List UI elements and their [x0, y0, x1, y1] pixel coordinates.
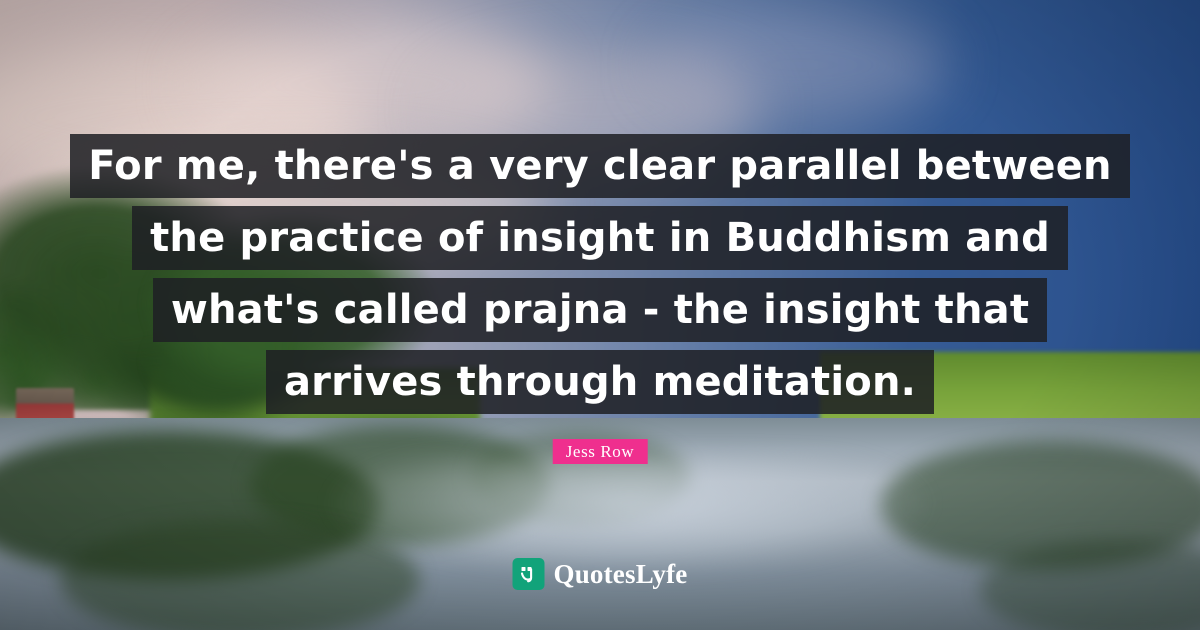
author-badge[interactable]: Jess Row: [553, 439, 648, 464]
quote-line: what's called prajna - the insight that: [153, 278, 1047, 342]
quote-line: arrives through meditation.: [266, 350, 934, 414]
quote-smiley-icon: [513, 558, 545, 590]
quote-image-card: For me, there's a very clear parallel be…: [0, 0, 1200, 630]
brand-logo[interactable]: QuotesLyfe: [513, 558, 688, 590]
quote-line: For me, there's a very clear parallel be…: [70, 134, 1129, 198]
brand-name: QuotesLyfe: [554, 559, 688, 589]
quote-line: the practice of insight in Buddhism and: [132, 206, 1068, 270]
quote-text: For me, there's a very clear parallel be…: [0, 134, 1200, 414]
